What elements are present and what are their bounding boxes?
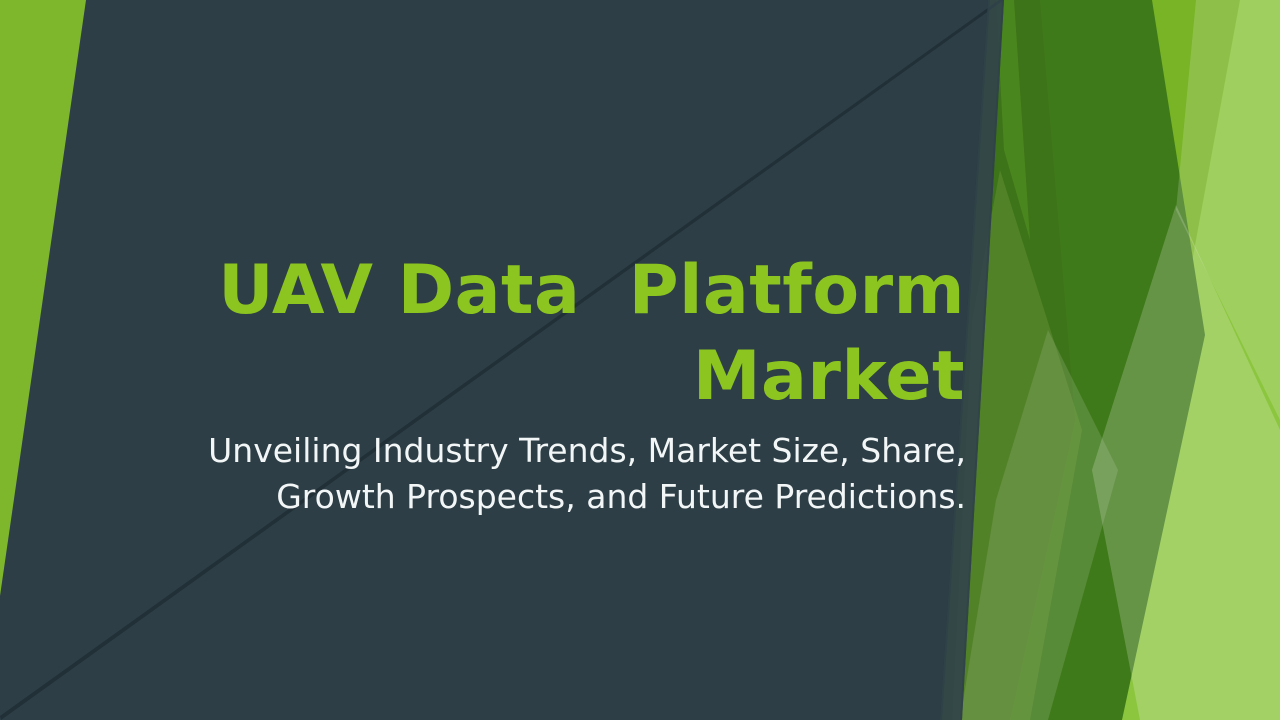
page-title: UAV Data Platform Market bbox=[150, 248, 965, 420]
page-subtitle: Unveiling Industry Trends, Market Size, … bbox=[150, 428, 966, 520]
subtitle-block: Unveiling Industry Trends, Market Size, … bbox=[150, 428, 966, 520]
title-block: UAV Data Platform Market bbox=[150, 248, 965, 420]
slide-text-content: UAV Data Platform Market Unveiling Indus… bbox=[0, 0, 1280, 720]
presentation-slide: UAV Data Platform Market Unveiling Indus… bbox=[0, 0, 1280, 720]
